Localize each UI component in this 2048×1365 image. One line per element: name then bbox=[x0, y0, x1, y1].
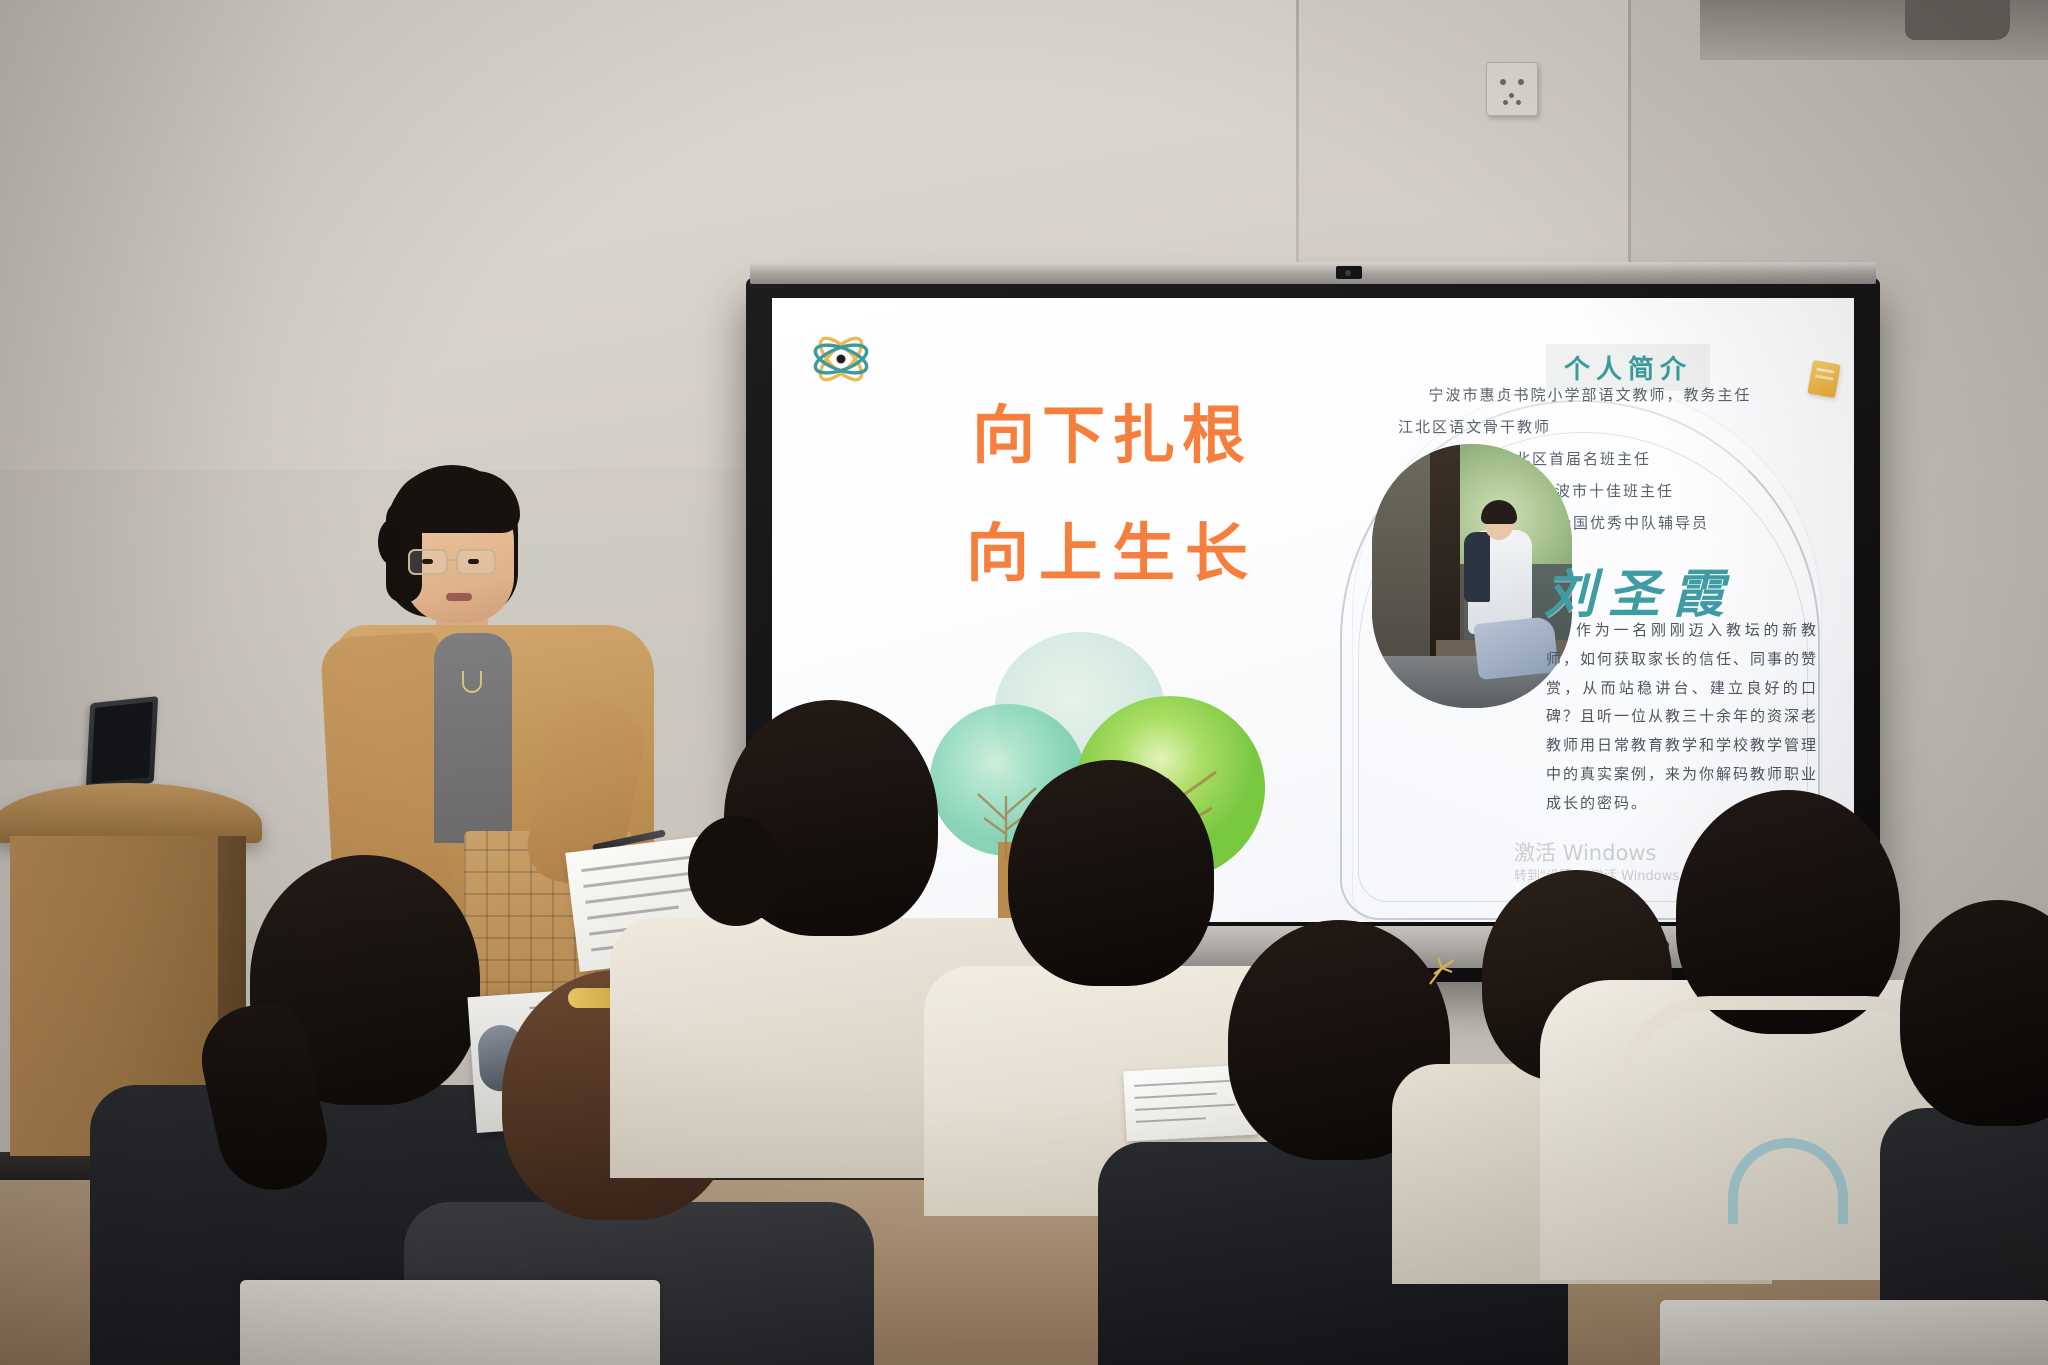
presenter-mouth bbox=[446, 593, 472, 601]
desk-surface bbox=[240, 1280, 660, 1365]
list-item bbox=[1900, 900, 2048, 1365]
presenter-eye bbox=[468, 559, 479, 564]
podium-laptop[interactable] bbox=[86, 696, 158, 790]
atom-icon bbox=[810, 328, 872, 390]
slide-title-line-1: 向下扎根 bbox=[902, 390, 1322, 482]
sticky-note-icon bbox=[1807, 360, 1840, 398]
presenter-eye bbox=[422, 559, 433, 564]
desk-surface bbox=[1660, 1300, 2048, 1365]
slide-title-line-2: 向上生长 bbox=[902, 508, 1322, 600]
portrait-photo bbox=[1372, 444, 1572, 708]
display-top-rail bbox=[750, 262, 1876, 284]
hair-pin-icon bbox=[1424, 954, 1460, 990]
wall-shadow bbox=[0, 0, 340, 760]
slide-title: 向下扎根 向上生长 bbox=[902, 390, 1322, 600]
eyeglasses-bridge bbox=[448, 559, 458, 561]
presenter-inner-top bbox=[434, 633, 512, 843]
power-outlet-icon bbox=[1486, 62, 1538, 116]
camera-icon bbox=[1336, 266, 1362, 279]
presenter-necklace bbox=[462, 671, 482, 693]
credential-item: 宁波市惠贞书院小学部语文教师，教务主任 bbox=[1370, 384, 1810, 405]
credential-item: 江北区语文骨干教师 bbox=[1370, 416, 1810, 437]
ceiling-chip bbox=[1905, 0, 2010, 40]
profile-heading-text: 个人简介 bbox=[1564, 355, 1692, 385]
bio-paragraph: 作为一名刚刚迈入教坛的新教师，如何获取家长的信任、同事的赞赏，从而站稳讲台、建立… bbox=[1546, 616, 1818, 818]
classroom-photo-scene: 向下扎根 向上生长 bbox=[0, 0, 2048, 1365]
bio-text: 作为一名刚刚迈入教坛的新教师，如何获取家长的信任、同事的赞赏，从而站稳讲台、建立… bbox=[1546, 616, 1818, 818]
presenter-hair-bun bbox=[378, 519, 406, 565]
